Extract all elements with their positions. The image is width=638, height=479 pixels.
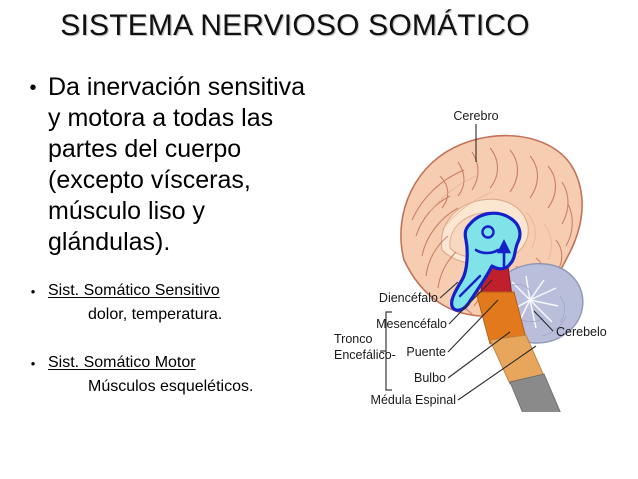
list-item: • Sist. Somático Motor [22, 352, 322, 373]
bullet-detail: dolor, temperatura. [0, 304, 330, 325]
label-tronco-encefalico-line1: Tronco [334, 332, 372, 346]
label-tronco-encefalico-line2: Encefálico- [334, 348, 396, 362]
list-item: • Da inervación sensitiva y motora a tod… [22, 72, 322, 258]
label-bulbo: Bulbo [414, 371, 446, 385]
spacer [0, 258, 330, 280]
bullet-text: Sist. Somático Motor [22, 352, 322, 373]
label-diencefalo: Diencéfalo [379, 291, 438, 305]
bullet-detail: Músculos esqueléticos. [0, 376, 330, 397]
bullet-marker: • [22, 281, 44, 302]
label-cerebro: Cerebro [453, 109, 498, 123]
slide-canvas: SISTEMA NERVIOSO SOMÁTICO • Da inervació… [0, 0, 638, 479]
label-cerebelo: Cerebelo [556, 325, 607, 339]
list-item: • Sist. Somático Sensitivo [22, 280, 322, 301]
bullet-text: Sist. Somático Sensitivo [22, 280, 322, 301]
bullet-text: Da inervación sensitiva y motora a todas… [22, 72, 322, 258]
brain-diagram: Cerebro Diencéfalo Mesencéfalo Puente Bu… [330, 100, 638, 412]
bullet-marker: • [22, 73, 44, 104]
bullet-marker: • [22, 353, 44, 374]
label-puente: Puente [406, 345, 446, 359]
bullet-list: • Da inervación sensitiva y motora a tod… [0, 72, 330, 397]
spacer [0, 325, 330, 352]
label-mesencefalo: Mesencéfalo [376, 317, 447, 331]
page-title: SISTEMA NERVIOSO SOMÁTICO [0, 8, 590, 44]
label-medula-espinal: Médula Espinal [371, 393, 456, 407]
